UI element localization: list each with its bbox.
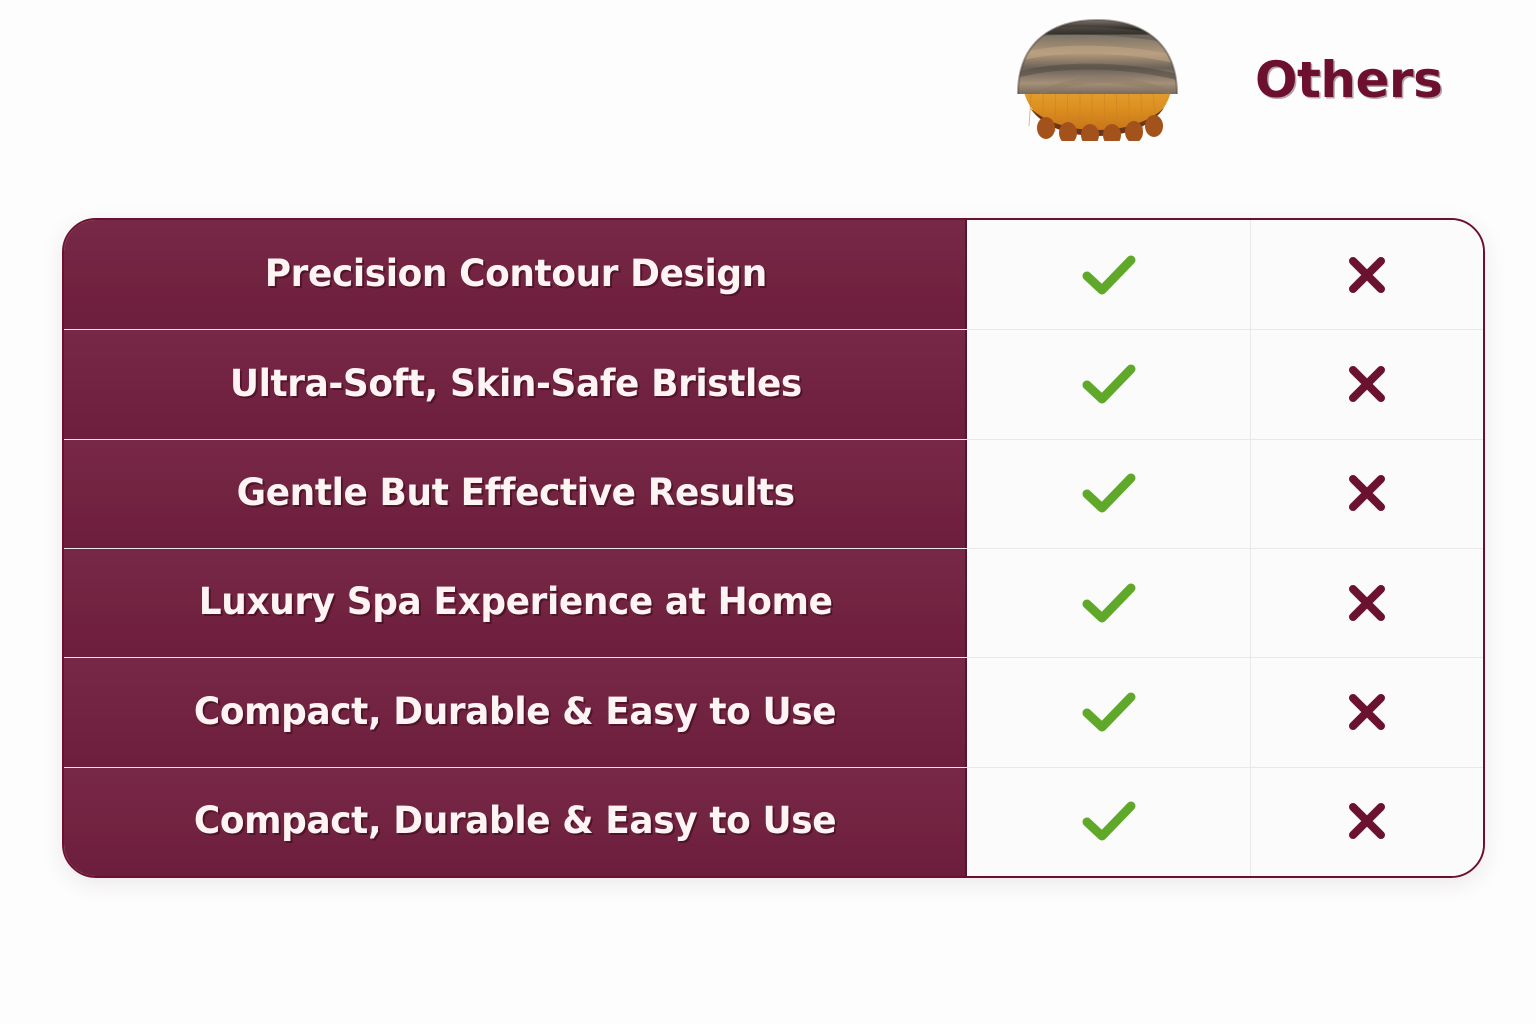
- ours-cell: [967, 548, 1250, 657]
- others-cell: [1250, 329, 1483, 438]
- feature-cell: Compact, Durable & Easy to Use: [64, 657, 967, 766]
- feature-label: Ultra-Soft, Skin-Safe Bristles: [229, 364, 801, 405]
- cross-icon: [1344, 361, 1390, 407]
- check-icon: [1079, 251, 1139, 299]
- cross-icon: [1344, 798, 1390, 844]
- others-cell: [1250, 657, 1483, 766]
- table-row: Ultra-Soft, Skin-Safe Bristles: [64, 329, 1483, 438]
- ours-cell: [967, 439, 1250, 548]
- table-row: Gentle But Effective Results: [64, 439, 1483, 548]
- others-column-heading: Others: [1255, 55, 1442, 105]
- check-icon: [1079, 360, 1139, 408]
- check-icon: [1079, 797, 1139, 845]
- others-cell: [1250, 220, 1483, 329]
- ours-cell: [967, 220, 1250, 329]
- ours-cell: [967, 329, 1250, 438]
- check-icon: [1079, 579, 1139, 627]
- others-cell: [1250, 439, 1483, 548]
- feature-label: Precision Contour Design: [264, 254, 766, 295]
- comparison-header: Others: [1010, 8, 1480, 148]
- feature-label: Compact, Durable & Easy to Use: [194, 801, 836, 842]
- cross-icon: [1344, 252, 1390, 298]
- wooden-body-brush-icon: [1010, 16, 1185, 141]
- check-icon: [1079, 688, 1139, 736]
- comparison-table-card: Precision Contour Design Ultra-Soft, Ski…: [62, 218, 1485, 878]
- check-icon: [1079, 469, 1139, 517]
- feature-cell: Gentle But Effective Results: [64, 439, 967, 548]
- table-row: Compact, Durable & Easy to Use: [64, 767, 1483, 876]
- feature-cell: Luxury Spa Experience at Home: [64, 548, 967, 657]
- cross-icon: [1344, 470, 1390, 516]
- cross-icon: [1344, 580, 1390, 626]
- feature-cell: Precision Contour Design: [64, 220, 967, 329]
- table-row: Luxury Spa Experience at Home: [64, 548, 1483, 657]
- table-row: Precision Contour Design: [64, 220, 1483, 329]
- others-cell: [1250, 548, 1483, 657]
- ours-cell: [967, 767, 1250, 876]
- comparison-table: Precision Contour Design Ultra-Soft, Ski…: [64, 220, 1483, 876]
- feature-cell: Ultra-Soft, Skin-Safe Bristles: [64, 329, 967, 438]
- feature-label: Luxury Spa Experience at Home: [199, 582, 833, 623]
- feature-label: Gentle But Effective Results: [236, 473, 794, 514]
- ours-cell: [967, 657, 1250, 766]
- feature-cell: Compact, Durable & Easy to Use: [64, 767, 967, 876]
- others-cell: [1250, 767, 1483, 876]
- table-row: Compact, Durable & Easy to Use: [64, 657, 1483, 766]
- feature-label: Compact, Durable & Easy to Use: [194, 692, 836, 733]
- cross-icon: [1344, 689, 1390, 735]
